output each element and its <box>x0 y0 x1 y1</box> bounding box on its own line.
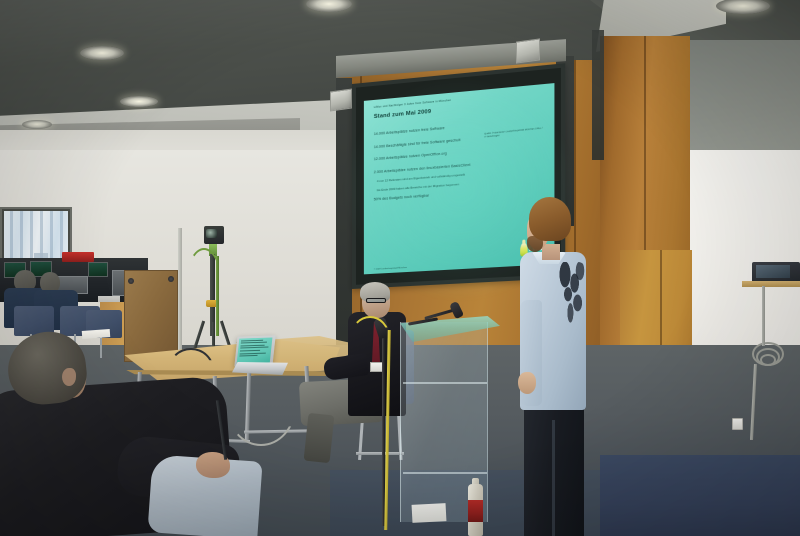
wall-post <box>178 228 182 356</box>
presenter-neck <box>542 244 560 260</box>
chair-leg <box>100 336 102 358</box>
slide-footer-left: © 2009 Landeshauptstadt München <box>374 267 407 271</box>
av-red-case <box>62 252 94 262</box>
audience-ear <box>62 368 76 386</box>
laptop-screen-line <box>240 352 266 354</box>
presentation-slide: LiMux und Nachfolger 3 Jahre freie Softw… <box>364 83 555 274</box>
camera-cable-drop <box>216 256 219 336</box>
laptop-screen-line <box>241 339 264 341</box>
floor-carpet-blue-right <box>600 455 800 536</box>
ceiling-downlight-icon <box>22 120 52 129</box>
chair-rail <box>356 452 404 455</box>
wall-speaker-icon <box>516 38 540 63</box>
laptop-screen-line <box>240 350 261 352</box>
laptop-screen-line <box>240 344 265 346</box>
wooden-board <box>124 270 178 362</box>
board-knob-icon <box>128 278 134 284</box>
wall-av-device-screen <box>756 265 790 278</box>
av-paper <box>98 296 120 302</box>
presenter-leg-seam <box>552 420 555 536</box>
slide-title: Stand zum Mai 2009 <box>374 98 546 120</box>
presenter-hair <box>529 197 571 241</box>
laptop-screen <box>237 337 273 363</box>
lectern-paper <box>412 503 447 523</box>
presenter-shirt-pattern <box>556 262 586 324</box>
board-knob-icon <box>168 276 174 282</box>
wall-strip-far-right <box>592 30 604 160</box>
laptop-screen-line <box>240 347 269 349</box>
conference-room-photo: LiMux und Nachfolger 3 Jahre freie Softw… <box>0 0 800 536</box>
ceiling-downlight-icon <box>80 46 124 60</box>
wall-socket-icon <box>732 418 743 430</box>
wall-speaker-icon <box>330 88 352 111</box>
av-monitor-icon <box>88 262 108 277</box>
speaker-glasses-icon <box>366 298 386 303</box>
laptop-screen-line <box>241 342 268 344</box>
coiled-cable <box>760 354 776 366</box>
lectern-rail <box>403 472 487 474</box>
laptop-screen-line <box>239 355 257 357</box>
laptop[interactable] <box>234 335 275 366</box>
speaker-shin <box>304 413 335 463</box>
ceiling-downlight-icon <box>120 96 158 107</box>
bottle-label <box>468 500 483 522</box>
wall-cable-drop <box>762 286 765 346</box>
lectern-rail <box>403 382 487 384</box>
camera-lens-icon <box>206 229 217 238</box>
wall-shelf <box>742 281 800 287</box>
presenter-hand <box>518 372 536 394</box>
